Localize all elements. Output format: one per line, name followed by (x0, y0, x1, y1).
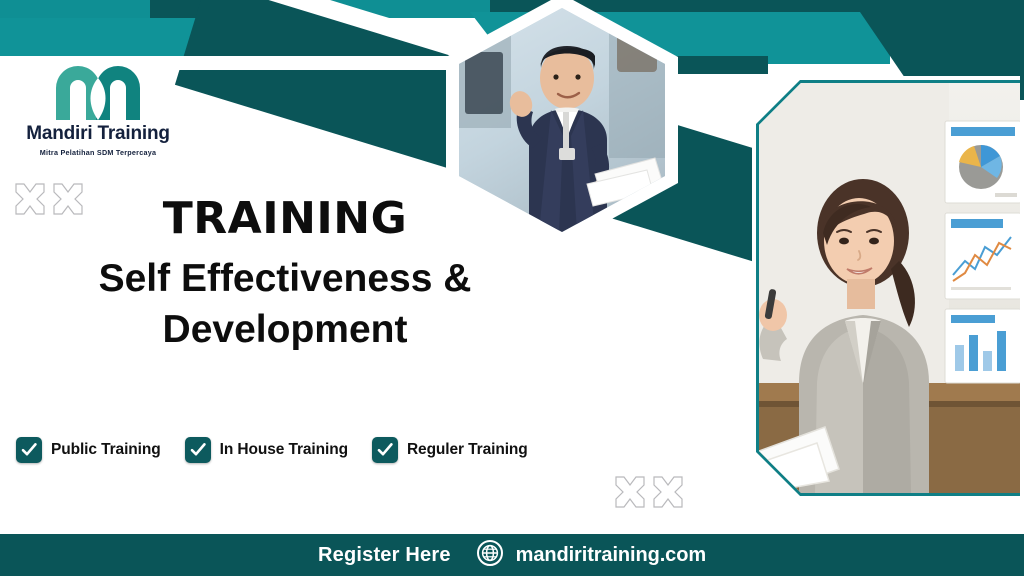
presenter-man-hexagon-photo (446, 0, 678, 246)
training-poster: Mandiri Training Mitra Pelatihan SDM Ter… (0, 0, 1024, 576)
brand-logo: Mandiri Training Mitra Pelatihan SDM Ter… (16, 60, 180, 157)
training-type-in-house[interactable]: In House Training (185, 437, 348, 463)
page-title-line2: Development (163, 308, 408, 351)
page-title: Self Effectiveness & Development (40, 254, 530, 355)
banner-stripe-accent-left (0, 0, 150, 18)
website-group[interactable]: mandiritraining.com (477, 540, 706, 571)
footer-bar: Register Here mandiritraining.com (0, 534, 1024, 576)
checkbox-checked-icon[interactable] (185, 437, 211, 463)
training-type-reguler[interactable]: Reguler Training (372, 437, 528, 463)
checkbox-checked-icon[interactable] (16, 437, 42, 463)
presenter-woman-photo (752, 76, 1020, 500)
globe-icon (477, 540, 503, 571)
banner-slab-left (0, 18, 352, 64)
page-title-line1: Self Effectiveness & (99, 257, 472, 300)
training-type-label: In House Training (220, 441, 348, 459)
photo-image (759, 83, 1020, 493)
brand-name: Mandiri Training (16, 123, 180, 145)
training-type-label: Public Training (51, 441, 161, 459)
brand-tagline: Mitra Pelatihan SDM Terpercaya (16, 148, 180, 157)
training-type-public[interactable]: Public Training (16, 437, 161, 463)
double-x-outline-icon (610, 473, 690, 520)
training-type-list: Public Training In House Training Regule… (16, 437, 528, 463)
register-here-label: Register Here (318, 544, 451, 567)
training-type-label: Reguler Training (407, 441, 528, 459)
website-url[interactable]: mandiritraining.com (516, 544, 706, 567)
mandiri-monogram-icon (52, 60, 144, 122)
checkbox-checked-icon[interactable] (372, 437, 398, 463)
